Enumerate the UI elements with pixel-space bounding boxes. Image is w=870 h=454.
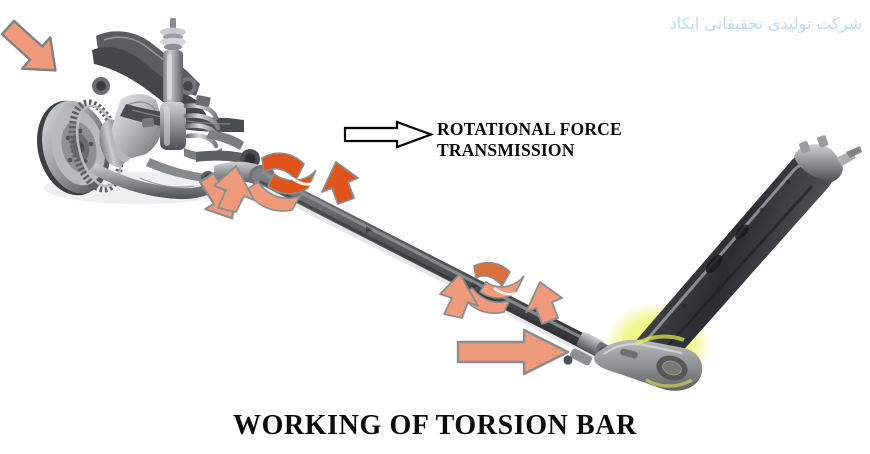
diagram-canvas: شرکت تولیدی تحقیقاتی ایکاد ROTATIONAL FO… bbox=[0, 0, 870, 454]
page-title: WORKING OF TORSION BAR bbox=[0, 409, 870, 443]
watermark-text: شرکت تولیدی تحقیقاتی ایکاد bbox=[670, 13, 862, 35]
torsion-bar-illustration bbox=[0, 0, 870, 454]
rotational-force-callout: ROTATIONAL FORCE TRANSMISSION bbox=[437, 119, 622, 161]
torsion-bar-shaft bbox=[260, 176, 600, 350]
callout-line-1: ROTATIONAL FORCE bbox=[437, 119, 622, 139]
input-force-arrow bbox=[0, 12, 70, 86]
trailing-arm bbox=[594, 135, 862, 391]
callout-line-2: TRANSMISSION bbox=[437, 140, 622, 161]
torsion-bar bbox=[260, 173, 614, 366]
transmission-arrow-icon bbox=[345, 122, 431, 147]
steering-knuckle bbox=[112, 94, 162, 158]
